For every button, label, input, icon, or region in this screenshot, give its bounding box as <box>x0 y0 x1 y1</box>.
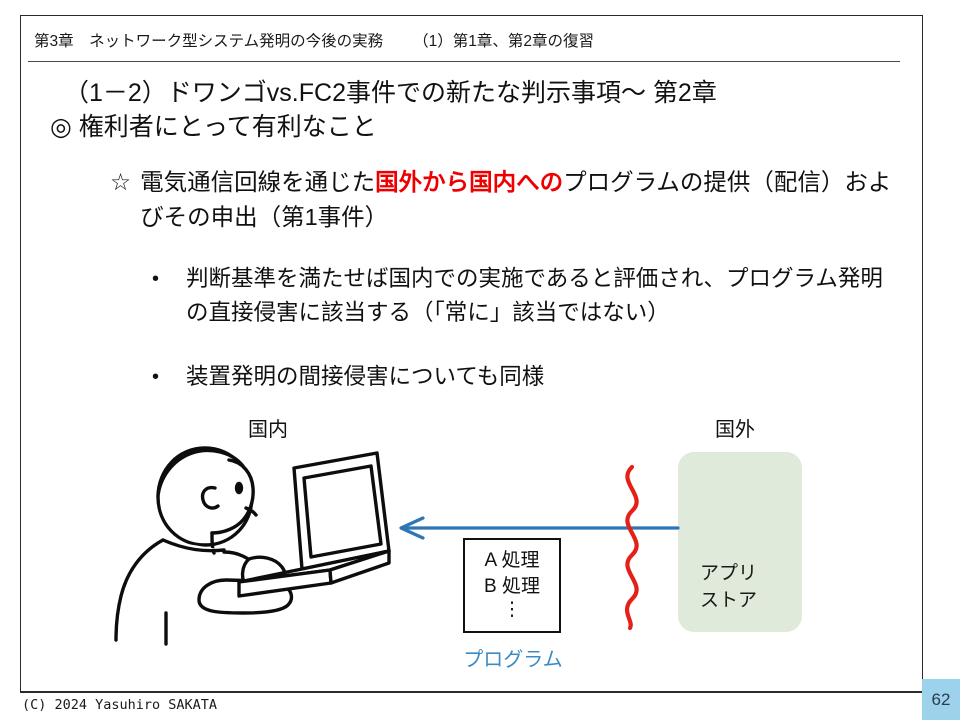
cross-border-diagram: 国内 国外 アプリ ストア A 処理 B 処理 ⋮ プログラム <box>0 400 960 690</box>
list-item-text: 装置発明の間接侵害についても同様 <box>186 360 892 394</box>
list-item: • 装置発明の間接侵害についても同様 <box>152 360 892 394</box>
bullet-dot-icon: • <box>152 360 186 394</box>
slide-header: 第3章 ネットワーク型システム発明の今後の実務 （1）第1章、第2章の復習 <box>22 17 921 62</box>
page-title: （1－2）ドワンゴvs.FC2事件での新たな判示事項～ 第2章 ◎ 権利者にとっ… <box>50 76 920 144</box>
header-divider <box>28 61 900 62</box>
border-wavy-line <box>627 467 637 628</box>
list-item-text: 判断基準を満たせば国内での実施であると評価され、プログラム発明の直接侵害に該当す… <box>186 262 892 330</box>
header-section: （1）第1章、第2章の復習 <box>383 29 594 51</box>
star-item-row: ☆ 電気通信回線を通じた国外から国内へのプログラムの提供（配信）およびその申出（… <box>110 165 910 235</box>
footer-divider <box>20 692 923 693</box>
person-with-laptop-illustration <box>116 448 291 644</box>
list-item: • 判断基準を満たせば国内での実施であると評価され、プログラム発明の直接侵害に該… <box>152 262 892 330</box>
star-icon: ☆ <box>110 165 140 200</box>
copyright-notice: (C) 2024 Yasuhiro SAKATA <box>22 697 217 713</box>
page-number-badge: 62 <box>922 679 960 720</box>
transfer-arrow <box>401 518 678 538</box>
bullet-dot-icon: • <box>152 262 186 296</box>
star-item-body: 電気通信回線を通じた国外から国内へのプログラムの提供（配信）およびその申出（第1… <box>140 165 910 235</box>
header-chapter: 第3章 ネットワーク型システム発明の今後の実務 <box>22 29 383 51</box>
title-line-2: ◎ 権利者にとって有利なこと <box>50 110 920 144</box>
title-line-1: （1－2）ドワンゴvs.FC2事件での新たな判示事項～ 第2章 <box>50 76 920 110</box>
diagram-vector-layer <box>0 400 960 690</box>
star-text-before: 電気通信回線を通じた <box>140 169 375 195</box>
star-text-highlight: 国外から国内への <box>375 169 563 195</box>
star-item: ☆ 電気通信回線を通じた国外から国内へのプログラムの提供（配信）およびその申出（… <box>110 165 910 235</box>
